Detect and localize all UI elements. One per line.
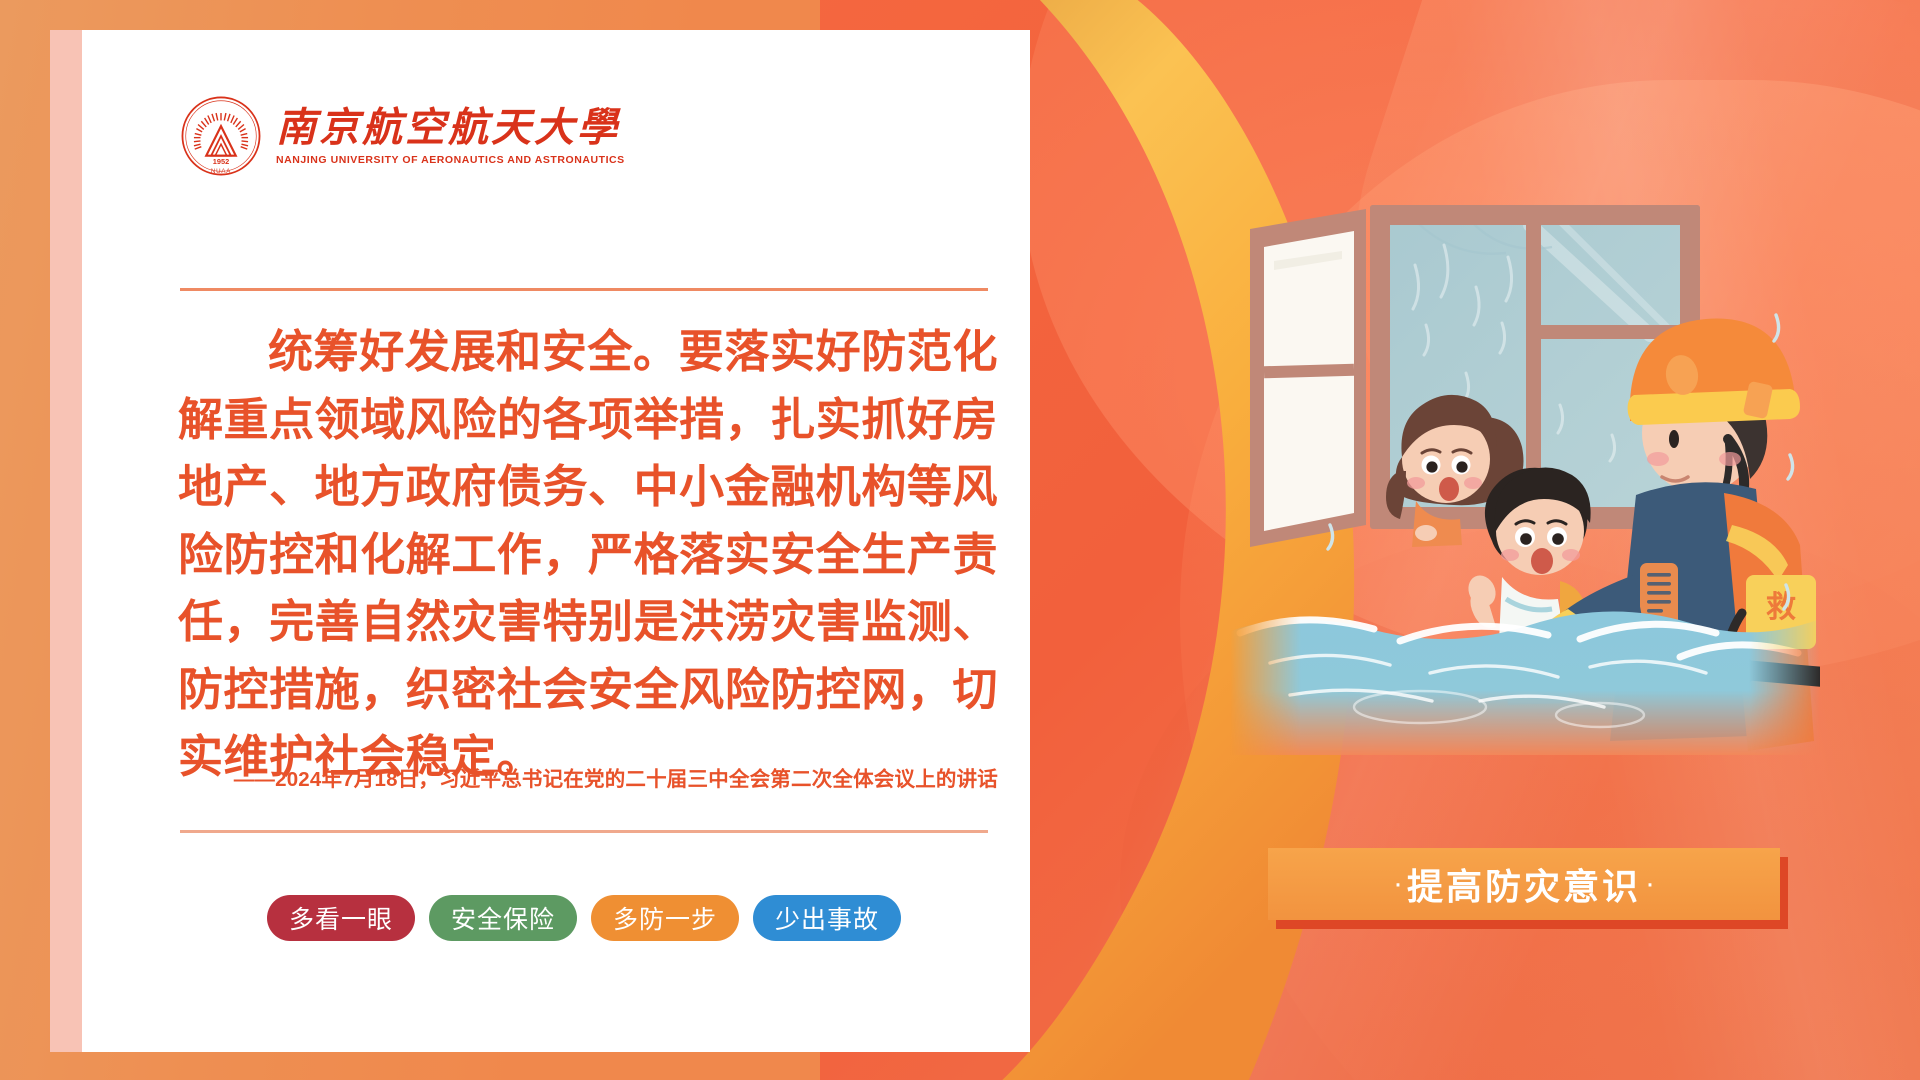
quote-text: 统筹好发展和安全。要落实好防范化解重点领域风险的各项举措，扎实抓好房地产、地方政… xyxy=(178,318,998,791)
slogan-pill-1[interactable]: 多看一眼 xyxy=(267,895,415,941)
university-name-en: NANJING UNIVERSITY OF AERONAUTICS AND AS… xyxy=(276,154,625,166)
svg-text:救: 救 xyxy=(1766,591,1796,624)
banner-dot-right: · xyxy=(1641,869,1659,899)
banner-dot-left: · xyxy=(1389,869,1407,899)
logo-text-block: 南京航空航天大學 NANJING UNIVERSITY OF AERONAUTI… xyxy=(276,106,625,165)
banner-title: 提高防灾意识 xyxy=(1407,858,1641,910)
university-name-cn: 南京航空航天大學 xyxy=(276,106,625,149)
illustration-svg: 救 xyxy=(1230,195,1820,755)
flood-water xyxy=(1230,611,1820,755)
divider-rule-top xyxy=(180,288,988,291)
quote-attribution: ——2024年7月18日，习近平总书记在党的二十届三中全会第二次全体会议上的讲话 xyxy=(178,762,998,792)
flood-rescue-illustration: 救 xyxy=(1230,195,1820,755)
window-open-leaf xyxy=(1250,209,1366,547)
slogan-pill-4[interactable]: 少出事故 xyxy=(753,895,901,941)
nuaa-seal-icon: 1952 NUAA xyxy=(180,95,262,177)
slogan-pill-2[interactable]: 安全保险 xyxy=(429,895,577,941)
svg-text:1952: 1952 xyxy=(213,157,229,166)
university-logo: 1952 NUAA 南京航空航天大學 NANJING UNIVERSITY OF… xyxy=(180,95,625,177)
poster-root: 1952 NUAA 南京航空航天大學 NANJING UNIVERSITY OF… xyxy=(0,0,1920,1080)
slogan-pill-group: 多看一眼 安全保险 多防一步 少出事故 xyxy=(180,895,988,941)
bottom-banner: · 提高防灾意识 · xyxy=(1268,848,1780,920)
banner-bar: · 提高防灾意识 · xyxy=(1268,848,1780,920)
divider-rule-bottom xyxy=(180,830,988,833)
card-pink-strip xyxy=(50,30,82,1052)
svg-text:NUAA: NUAA xyxy=(211,168,231,175)
slogan-pill-3[interactable]: 多防一步 xyxy=(591,895,739,941)
